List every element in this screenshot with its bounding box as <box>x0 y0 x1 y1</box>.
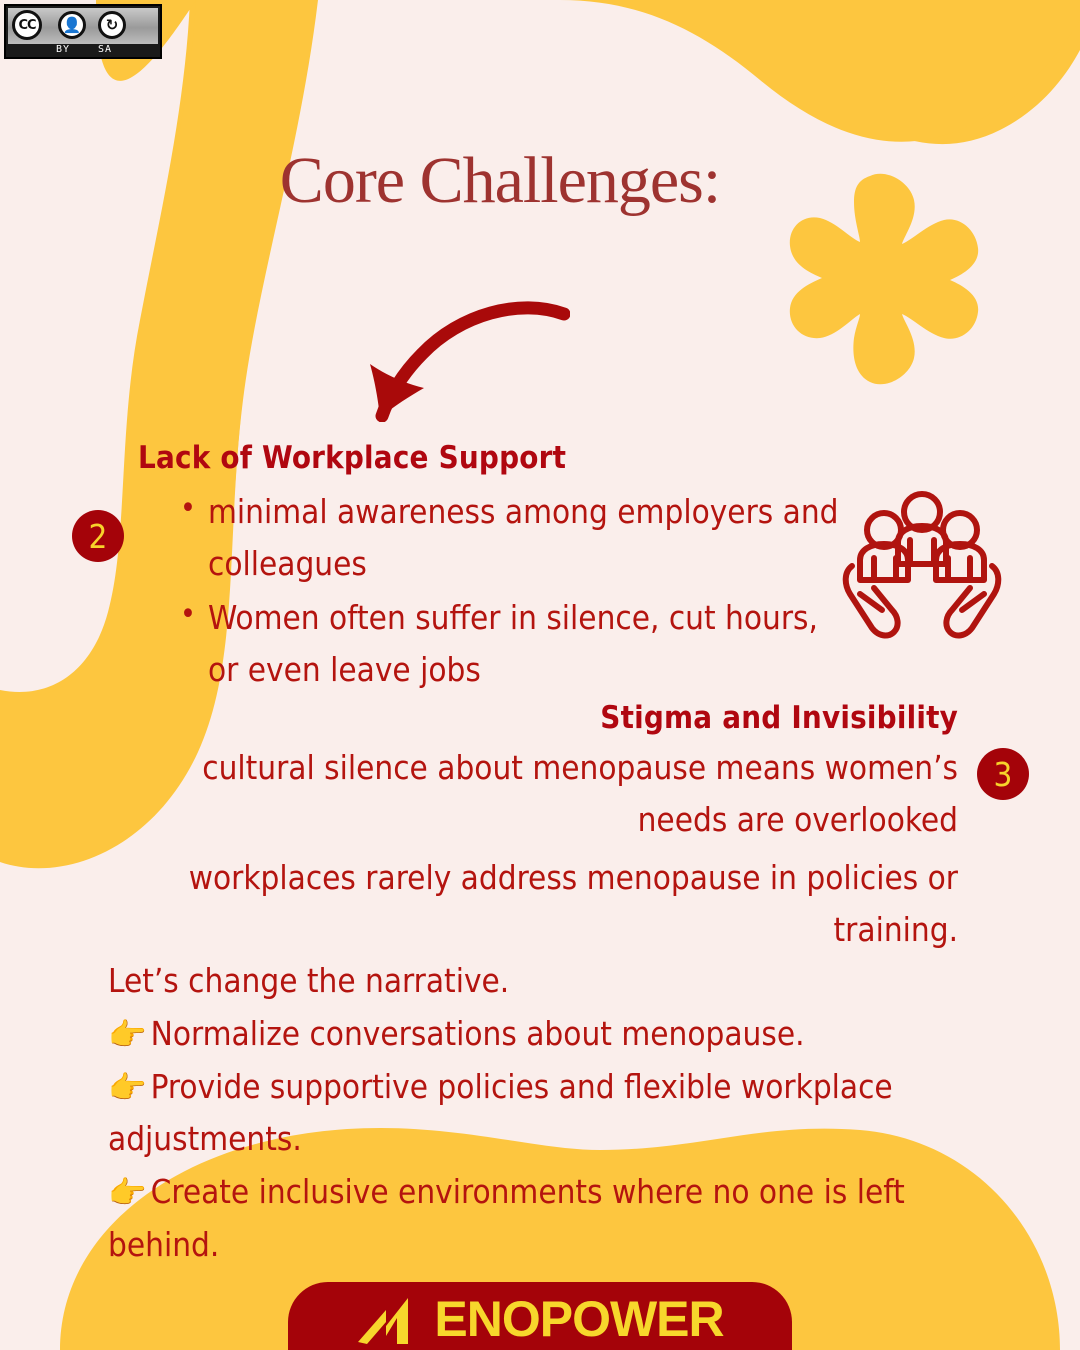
cta-item: 👉Normalize conversations about menopause… <box>108 1008 988 1061</box>
section-lack-of-workplace-support: Lack of Workplace Support minimal awaren… <box>0 440 1080 699</box>
brand-logo: ENOPOWER <box>356 1292 723 1346</box>
pointing-hand-icon: 👉 <box>108 1169 147 1219</box>
cc-by-icon: 👤 <box>58 11 86 39</box>
call-to-action-block: Let’s change the narrative. 👉Normalize c… <box>108 955 988 1272</box>
cta-item-text: Provide supportive policies and flexible… <box>108 1067 893 1159</box>
page-title: Core Challenges: <box>0 143 1000 219</box>
brand-footer-pill: ENOPOWER <box>288 1282 792 1350</box>
cc-by-label: BY <box>56 44 70 55</box>
section-2-heading: Stigma and Invisibility <box>118 700 958 736</box>
cta-item: 👉Create inclusive environments where no … <box>108 1166 988 1272</box>
list-item: Women often suffer in silence, cut hours… <box>208 592 848 696</box>
cc-icon: CC <box>12 10 42 40</box>
pointing-hand-icon: 👉 <box>108 1011 147 1061</box>
yellow-blob-top <box>0 0 1080 144</box>
cc-sa-label: SA <box>98 44 112 55</box>
infographic-poster: CC 👤 ↻ BY SA Core Challenges: <box>0 0 1080 1350</box>
yellow-blob-top-right <box>560 0 1080 142</box>
cta-item: 👉Provide supportive policies and flexibl… <box>108 1061 988 1167</box>
creative-commons-badge: CC 👤 ↻ BY SA <box>4 4 162 59</box>
cta-item-text: Create inclusive environments where no o… <box>108 1172 905 1264</box>
cta-intro: Let’s change the narrative. <box>108 955 988 1008</box>
list-item: minimal awareness among employers and co… <box>208 486 848 590</box>
cc-sa-icon: ↻ <box>98 11 126 39</box>
lightning-bolt-m-icon <box>356 1292 434 1346</box>
section-1-heading: Lack of Workplace Support <box>138 440 1080 476</box>
step-number-badge-3: 3 <box>977 748 1029 800</box>
section-2-line: workplaces rarely address menopause in p… <box>118 852 958 956</box>
brand-name: ENOPOWER <box>434 1294 723 1344</box>
pointing-hand-icon: 👉 <box>108 1064 147 1114</box>
curved-arrow-icon <box>340 292 570 422</box>
section-2-line: cultural silence about menopause means w… <box>118 742 958 846</box>
section-1-bullet-list: minimal awareness among employers and co… <box>0 486 848 697</box>
step-number-badge-2: 2 <box>72 510 124 562</box>
section-stigma-and-invisibility: Stigma and Invisibility cultural silence… <box>118 700 958 957</box>
cta-item-text: Normalize conversations about menopause. <box>151 1014 805 1053</box>
